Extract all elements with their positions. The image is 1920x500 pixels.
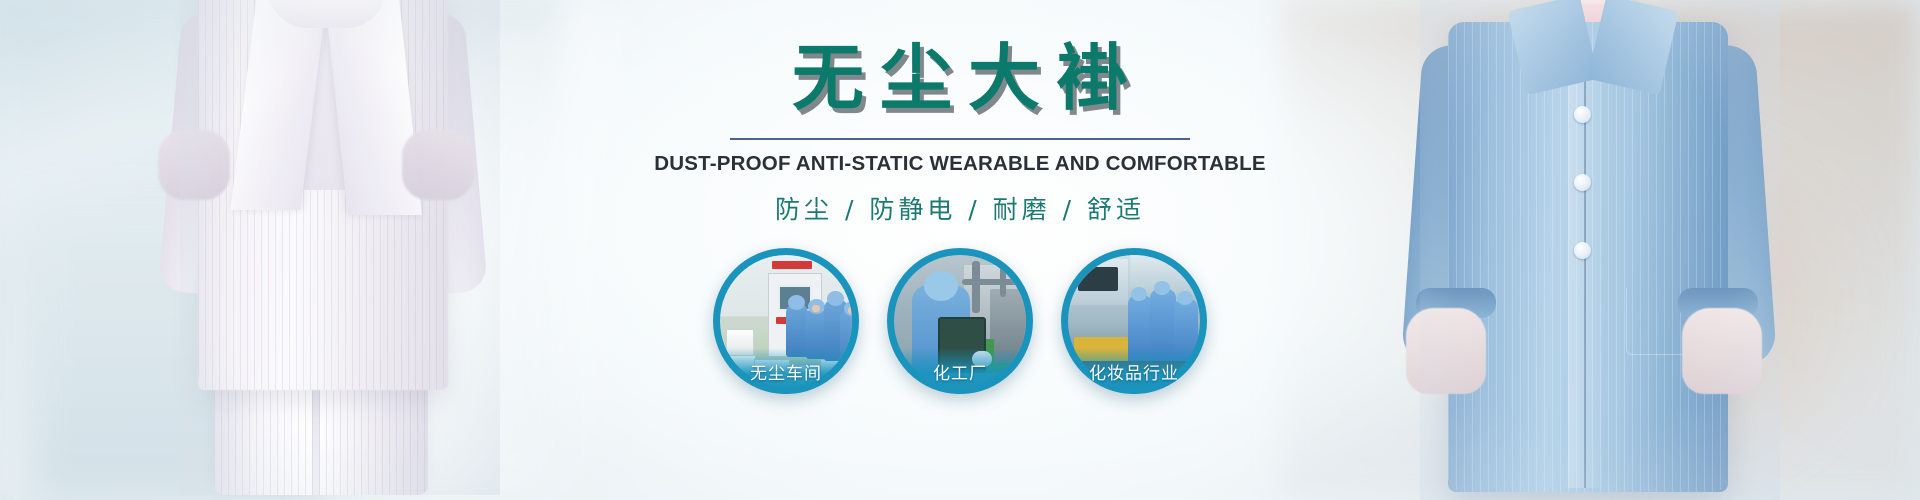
monitor	[1078, 267, 1118, 291]
worker-face	[848, 307, 852, 314]
banner-subtitle-chinese: 防尘 / 防静电 / 耐磨 / 舒适	[775, 190, 1145, 226]
badge-label: 无尘车间	[713, 359, 859, 384]
product-hero-banner: 无尘大褂 DUST-PROOF ANTI-STATIC WEARABLE AND…	[0, 0, 1920, 500]
worker-hood	[788, 295, 805, 310]
badge-chemical-plant[interactable]: 化工厂	[887, 248, 1033, 394]
pipe	[972, 261, 980, 313]
worker-hood	[1131, 287, 1147, 301]
application-badges: 无尘车间	[713, 248, 1207, 394]
worker-hood	[827, 291, 844, 306]
banner-title: 无尘大褂	[776, 42, 1144, 114]
pipe	[1000, 257, 1006, 297]
banner-subtitle-english: DUST-PROOF ANTI-STATIC WEARABLE AND COMF…	[654, 152, 1265, 176]
worker-hood	[1154, 281, 1170, 295]
badge-cosmetics-industry[interactable]: 化妆品行业	[1061, 248, 1207, 394]
warning-sign	[772, 261, 812, 269]
pipe	[962, 279, 1020, 285]
badge-label: 化工厂	[887, 359, 1033, 384]
worker-face	[812, 305, 820, 312]
worker-hood	[1177, 291, 1193, 305]
worker-hood	[924, 271, 958, 301]
badge-cleanroom-workshop[interactable]: 无尘车间	[713, 248, 859, 394]
title-divider	[730, 138, 1190, 140]
badge-label: 化妆品行业	[1061, 359, 1207, 384]
banner-content: 无尘大褂 DUST-PROOF ANTI-STATIC WEARABLE AND…	[0, 0, 1920, 500]
